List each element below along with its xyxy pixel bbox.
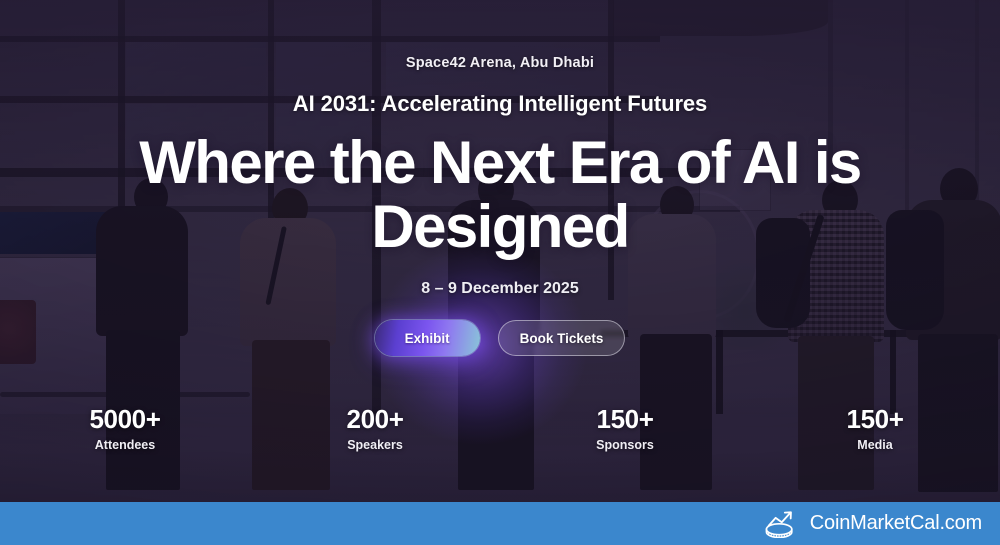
venue-label: Space42 Arena, Abu Dhabi xyxy=(406,55,594,71)
event-dates: 8 – 9 December 2025 xyxy=(421,280,578,298)
exhibit-button[interactable]: Exhibit xyxy=(375,320,480,356)
hero-section: Space42 Arena, Abu Dhabi AI 2031: Accele… xyxy=(0,0,1000,502)
brand-name: CoinMarketCal.com xyxy=(810,512,982,535)
stat-attendees: 5000+ Attendees xyxy=(0,405,250,452)
stat-value: 150+ xyxy=(750,405,1000,435)
stats-row: 5000+ Attendees 200+ Speakers 150+ Spons… xyxy=(0,405,1000,452)
stat-value: 200+ xyxy=(250,405,500,435)
book-tickets-button[interactable]: Book Tickets xyxy=(498,320,626,356)
stat-label: Speakers xyxy=(250,438,500,452)
stat-speakers: 200+ Speakers xyxy=(250,405,500,452)
event-name: AI 2031: Accelerating Intelligent Future… xyxy=(293,91,707,117)
stat-value: 5000+ xyxy=(0,405,250,435)
stat-label: Attendees xyxy=(0,438,250,452)
stat-media: 150+ Media xyxy=(750,405,1000,452)
cta-row: Exhibit Book Tickets xyxy=(375,320,626,356)
stat-label: Sponsors xyxy=(500,438,750,452)
event-hero-screenshot: Space42 Arena, Abu Dhabi AI 2031: Accele… xyxy=(0,0,1000,545)
coin-chart-icon xyxy=(761,510,799,538)
stat-value: 150+ xyxy=(500,405,750,435)
stat-label: Media xyxy=(750,438,1000,452)
stat-sponsors: 150+ Sponsors xyxy=(500,405,750,452)
page-title: Where the Next Era of AI is Designed xyxy=(105,131,895,258)
brand-bar: CoinMarketCal.com xyxy=(0,502,1000,545)
